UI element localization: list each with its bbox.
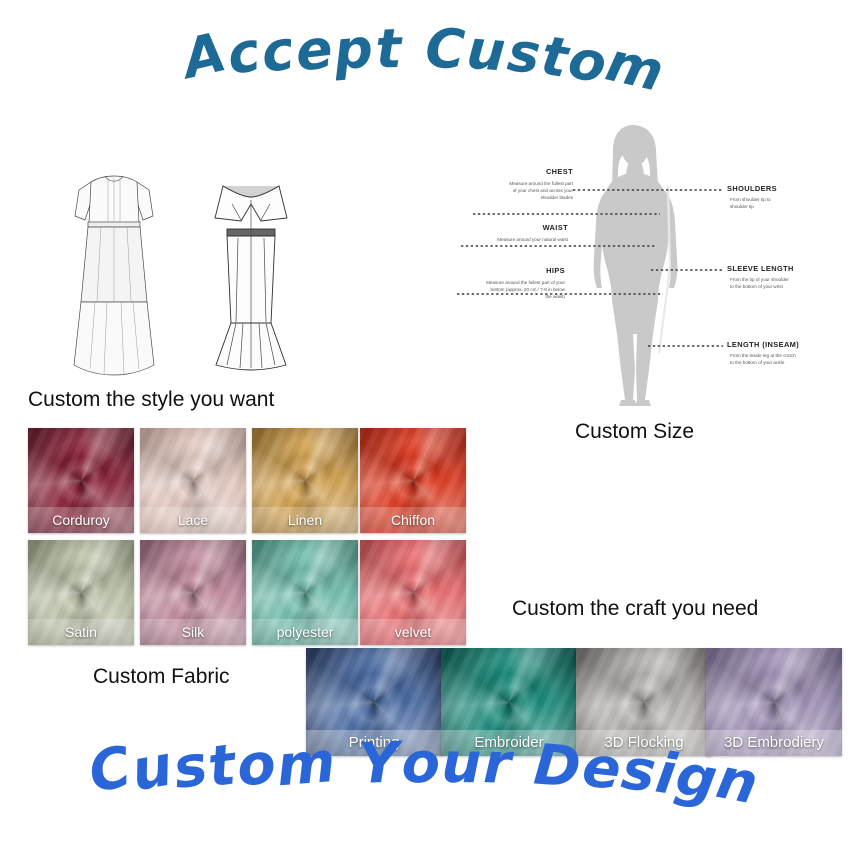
fabric-swatch-velvet[interactable]: velvet	[360, 540, 466, 645]
swatch-caption: polyester	[252, 619, 358, 645]
heading-custom-size: Custom Size	[575, 420, 694, 444]
size-label-shoulders: SHOULDERS	[727, 184, 777, 193]
fabric-swatch-satin[interactable]: Satin	[28, 540, 134, 645]
size-label-chest: CHEST	[455, 167, 573, 176]
swatch-caption: velvet	[360, 619, 466, 645]
fabric-swatch-corduroy[interactable]: Corduroy	[28, 428, 134, 533]
banner-accept-custom: Accept Custom	[0, 34, 850, 88]
heading-custom-style: Custom the style you want	[28, 388, 274, 412]
size-label-length-inseam: LENGTH (INSEAM)	[727, 340, 799, 349]
dress-sketches-svg	[55, 160, 335, 385]
banner-char: u	[441, 736, 483, 792]
banner-char: c	[257, 23, 298, 81]
banner-char: D	[532, 737, 584, 797]
swatch-caption: Silk	[140, 619, 246, 645]
banner-char: m	[275, 735, 339, 796]
heading-custom-fabric: Custom Fabric	[93, 665, 230, 689]
banner-char	[336, 736, 360, 793]
size-label-sleeve-length: SLEEVE LENGTH	[727, 264, 794, 273]
size-desc-hips: Measure around the fullest part of your …	[455, 279, 565, 300]
banner-char: r	[483, 736, 514, 793]
banner-char: p	[332, 21, 376, 78]
size-desc-sleeve-length: From the tip of your shoulder to the bot…	[730, 276, 789, 290]
dress-a-long-sleeve-tiered-dress-sketch	[74, 176, 154, 375]
banner-char: o	[401, 736, 441, 792]
banner-char: u	[465, 23, 508, 80]
banner-char: t	[375, 22, 404, 77]
banner-char: e	[580, 739, 624, 799]
fabric-swatch-polyester[interactable]: polyester	[252, 540, 358, 645]
fabric-swatch-silk[interactable]: Silk	[140, 540, 246, 645]
banner-bottom-text: Custom Your Design	[96, 748, 754, 804]
banner-char: m	[601, 35, 669, 101]
female-body-silhouette-icon	[594, 125, 678, 406]
banner-char: Y	[358, 736, 401, 793]
swatch-caption: Satin	[28, 619, 134, 645]
style-sketch-area	[55, 160, 335, 385]
fabric-swatch-linen[interactable]: Linen	[252, 428, 358, 533]
banner-char	[404, 22, 424, 76]
craft-swatch-3d-embrodiery[interactable]: 3D Embrodiery	[706, 648, 842, 756]
banner-char: n	[713, 751, 764, 814]
size-label-hips: HIPS	[455, 266, 565, 275]
banner-char: C	[424, 22, 467, 77]
size-measurement-chart: CHEST Measure around the fullest part of…	[455, 118, 840, 408]
banner-custom-your-design: Custom Your Design	[0, 748, 850, 804]
size-desc-shoulders: From shoulder tip to shoulder tip	[730, 196, 771, 210]
swatch-caption: Linen	[252, 507, 358, 533]
banner-char: o	[234, 736, 279, 796]
size-desc-waist: Measure around your natural waist	[455, 236, 568, 243]
banner-char: e	[293, 22, 336, 80]
swatch-caption: Chiffon	[360, 507, 466, 533]
size-desc-length-inseam: From the inside leg at the crotch to the…	[730, 352, 796, 366]
banner-top-text: Accept Custom	[191, 34, 659, 88]
size-label-waist: WAIST	[455, 223, 568, 232]
heading-custom-craft: Custom the craft you need	[512, 597, 758, 621]
dress-b-off-shoulder-mermaid-dress-sketch	[215, 186, 287, 370]
size-desc-chest: Measure around the fullest part of your …	[455, 180, 573, 201]
fabric-swatch-chiffon[interactable]: Chiffon	[360, 428, 466, 533]
swatch-caption: Corduroy	[28, 507, 134, 533]
swatch-caption: Lace	[140, 507, 246, 533]
fabric-swatch-lace[interactable]: Lace	[140, 428, 246, 533]
